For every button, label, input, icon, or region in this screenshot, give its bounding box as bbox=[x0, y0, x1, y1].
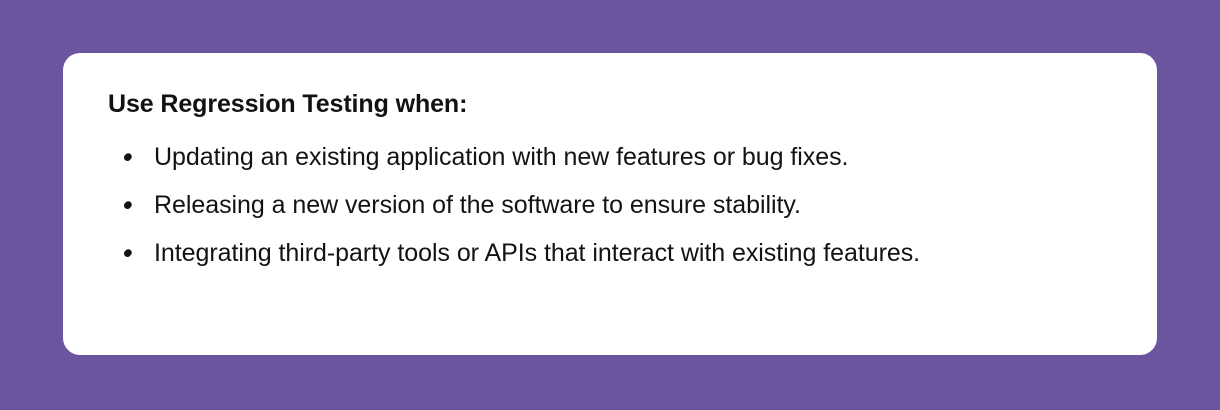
page-title: Use Regression Testing when: bbox=[108, 89, 1117, 119]
list-item: • Releasing a new version of the softwar… bbox=[108, 181, 1104, 229]
list-item-text: Updating an existing application with ne… bbox=[154, 143, 848, 171]
bullet-icon: • bbox=[124, 133, 133, 181]
list-item-text: Integrating third-party tools or APIs th… bbox=[154, 239, 920, 267]
bullet-icon: • bbox=[124, 181, 133, 229]
page-background: Use Regression Testing when: • Updating … bbox=[0, 0, 1220, 410]
list-item: • Integrating third-party tools or APIs … bbox=[108, 229, 1104, 277]
bullet-icon: • bbox=[124, 229, 133, 277]
list-item-text: Releasing a new version of the software … bbox=[154, 191, 801, 219]
content-card: Use Regression Testing when: • Updating … bbox=[63, 53, 1157, 355]
list-item: • Updating an existing application with … bbox=[108, 133, 1104, 181]
regression-testing-use-cases-list: • Updating an existing application with … bbox=[108, 133, 1117, 277]
